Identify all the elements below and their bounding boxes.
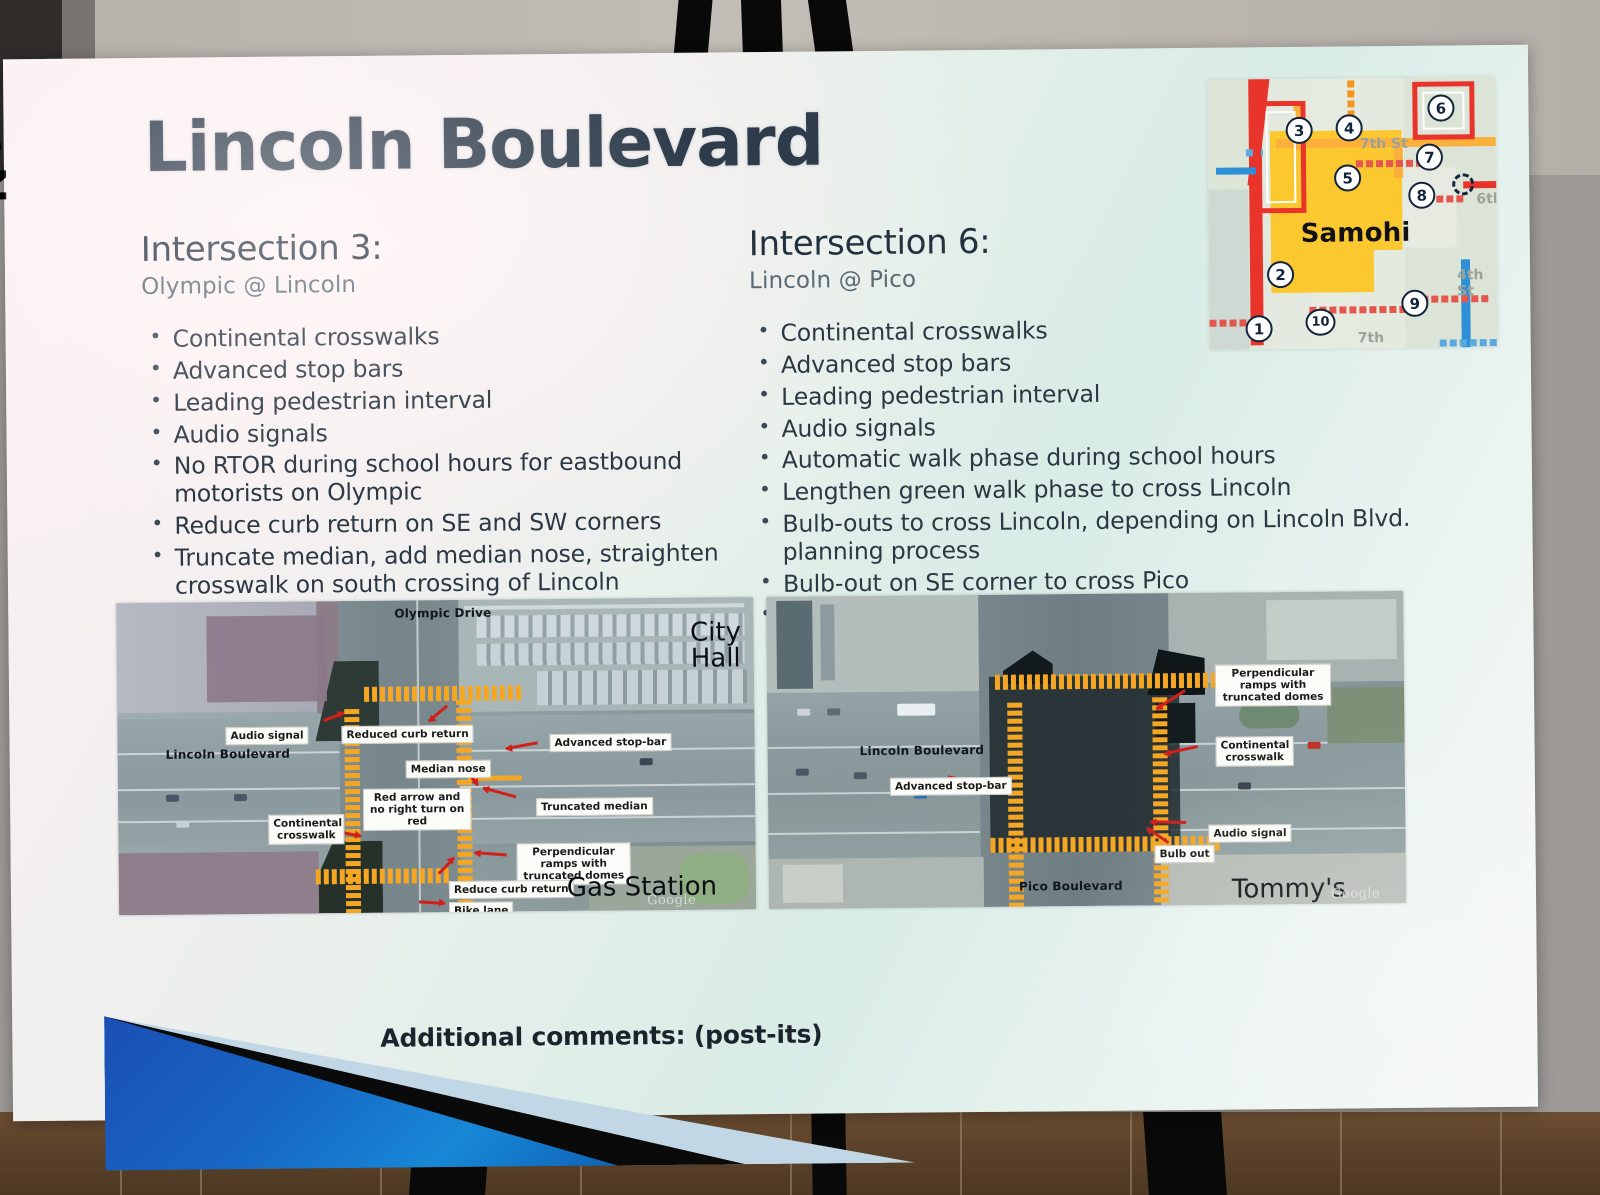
- easel-leg-top-center: [741, 0, 783, 58]
- list-item: Truncate median, add median nose, straig…: [144, 539, 745, 600]
- callout-red-arrow-no-rtor: Red arrow and no right turn on red: [363, 788, 471, 831]
- additional-comments-label: Additional comments: (post-its): [380, 1020, 822, 1053]
- poster-board: Lincoln Boulevard Intersection 3: Olympi…: [3, 45, 1538, 1122]
- callout-truncated-median: Truncated median: [536, 797, 653, 816]
- list-item: Automatic walk phase during school hours: [751, 441, 1411, 475]
- crosswalk-north: [364, 685, 521, 702]
- map-marker-2[interactable]: 2: [1267, 261, 1294, 288]
- callout-audio-signal: Audio signal: [1208, 824, 1291, 843]
- map-marker-8[interactable]: 8: [1408, 182, 1435, 209]
- callout-median-nose: Median nose: [406, 760, 491, 779]
- map-marker-6[interactable]: 6: [1427, 94, 1454, 121]
- easel-leg-top-right: [808, 0, 854, 58]
- page-title: Lincoln Boulevard: [143, 101, 823, 188]
- map-marker-10[interactable]: 10: [1305, 309, 1335, 336]
- list-item: Reduce curb return on SE and SW corners: [143, 507, 743, 541]
- section-intersection-3: Intersection 3: Olympic @ Lincoln Contin…: [141, 224, 745, 604]
- callout-bulb-out: Bulb out: [1155, 845, 1215, 864]
- roundabout-icon: [1452, 173, 1474, 195]
- north-arrow-icon: [0, 119, 20, 209]
- aerial-photo-intersection-6: Perpendicular ramps with truncated domes…: [766, 591, 1406, 909]
- easel-leg-bottom-right: [1143, 1112, 1227, 1195]
- map-marker-5[interactable]: 5: [1334, 164, 1361, 191]
- list-item: Bulb-outs to cross Lincoln, depending on…: [751, 505, 1412, 567]
- place-label-city-hall: CityHall: [676, 619, 754, 672]
- aerial-photo-intersection-3: Audio signal Reduced curb return Advance…: [116, 597, 756, 915]
- list-item: Leading pedestrian interval: [750, 378, 1410, 412]
- google-watermark: Google: [647, 893, 696, 908]
- samohi-label: Samohi: [1301, 218, 1411, 249]
- street-label-6th: 6th: [1476, 191, 1497, 207]
- crosswalk-south: [316, 868, 449, 884]
- list-item: Lengthen green walk phase to cross Linco…: [751, 473, 1411, 507]
- list-item: Audio signals: [142, 416, 742, 450]
- callout-continental-crosswalk: Continental crosswalk: [268, 814, 344, 845]
- map-marker-3[interactable]: 3: [1286, 117, 1313, 144]
- easel-leg-top-left: [673, 0, 712, 58]
- callout-advanced-stop-bar: Advanced stop-bar: [549, 733, 671, 752]
- place-label-gas-station: Gas Station: [537, 873, 747, 901]
- map-marker-7[interactable]: 7: [1416, 144, 1443, 171]
- callout-bike-lane: Bike lane: [449, 901, 514, 915]
- crosswalk-west: [1007, 703, 1024, 909]
- bullet-list-intersection-6: Continental crosswalks Advanced stop bar…: [749, 314, 1412, 631]
- google-watermark: Google: [1331, 886, 1380, 901]
- list-item: Advanced stop bars: [142, 352, 742, 386]
- road-label-olympic-drive: Olympic Drive: [394, 606, 491, 621]
- street-label-7th-lower: 7th: [1358, 330, 1385, 346]
- list-item: Leading pedestrian interval: [142, 384, 742, 418]
- callout-audio-signal: Audio signal: [225, 726, 308, 745]
- section-heading: Intersection 3:: [141, 224, 741, 270]
- street-label-4th: 4th St: [1457, 267, 1497, 299]
- key-map: Samohi 7th St 6th 4th St 7th 1 2 3 4 5 6…: [1207, 77, 1498, 350]
- street-label-7th: 7th St: [1360, 136, 1408, 152]
- crosswalk-north: [995, 672, 1240, 689]
- callout-continental-crosswalk: Continental crosswalk: [1215, 736, 1293, 767]
- list-item: Continental crosswalks: [142, 320, 742, 354]
- callout-advanced-stop-bar: Advanced stop-bar: [890, 777, 1012, 796]
- list-item: Advanced stop bars: [750, 346, 1410, 380]
- bullet-list-intersection-3: Continental crosswalks Advanced stop bar…: [142, 320, 745, 600]
- section-subheading: Olympic @ Lincoln: [141, 268, 741, 300]
- road-label-lincoln-blvd: Lincoln Boulevard: [860, 743, 985, 758]
- list-item: Audio signals: [750, 409, 1410, 443]
- callout-reduced-curb-return: Reduced curb return: [341, 725, 473, 744]
- photo-of-presentation-board: Lincoln Boulevard Intersection 3: Olympi…: [0, 0, 1600, 1195]
- map-marker-1[interactable]: 1: [1245, 315, 1272, 342]
- road-label-lincoln-blvd: Lincoln Boulevard: [166, 747, 291, 762]
- road-label-pico-blvd: Pico Boulevard: [1019, 879, 1123, 894]
- list-item: No RTOR during school hours for eastboun…: [143, 448, 744, 509]
- crosswalk-east: [1152, 697, 1169, 909]
- callout-perpendicular-ramps: Perpendicular ramps with truncated domes: [1215, 664, 1331, 707]
- map-marker-4[interactable]: 4: [1336, 114, 1363, 141]
- map-marker-9[interactable]: 9: [1401, 290, 1428, 317]
